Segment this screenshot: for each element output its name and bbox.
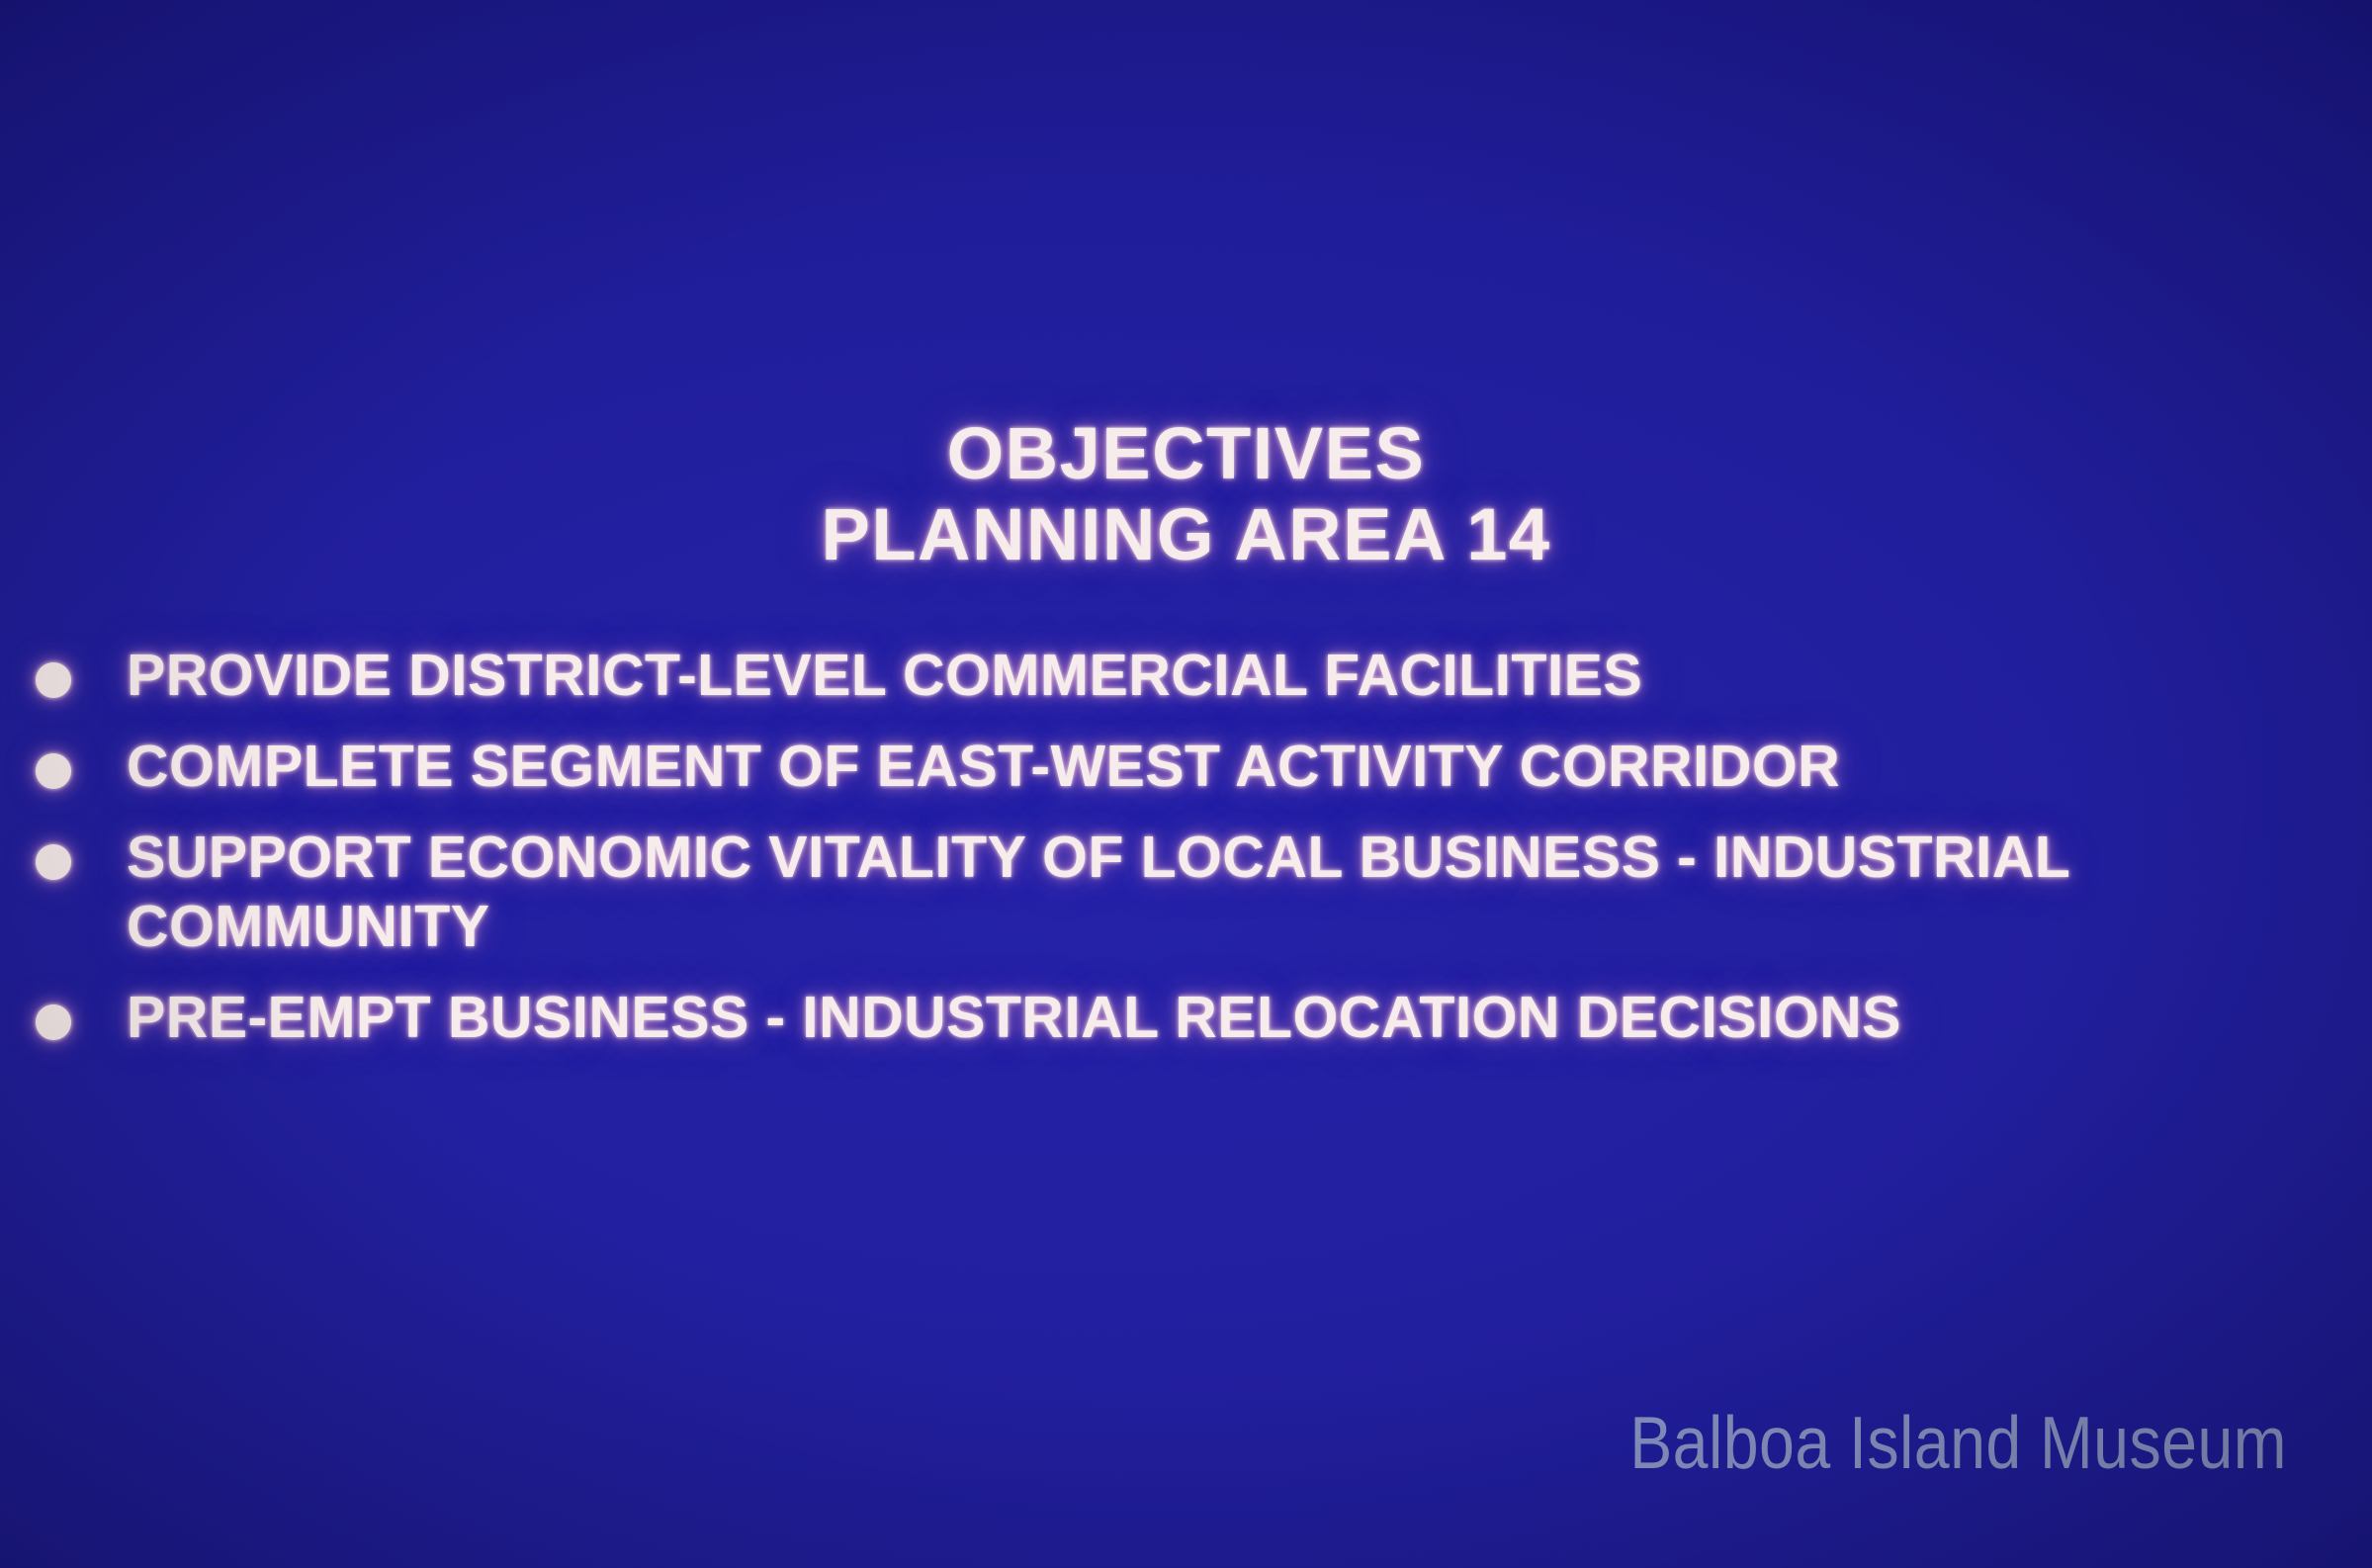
list-item: COMPLETE SEGMENT OF EAST-WEST ACTIVITY C…: [0, 732, 2372, 801]
list-item: PROVIDE DISTRICT-LEVEL COMMERCIAL FACILI…: [0, 641, 2372, 710]
list-item-label: PRE-EMPT BUSINESS - INDUSTRIAL RELOCATIO…: [127, 983, 2372, 1052]
list-item-label: PROVIDE DISTRICT-LEVEL COMMERCIAL FACILI…: [127, 641, 2372, 710]
presentation-slide: OBJECTIVES PLANNING AREA 14 PROVIDE DIST…: [0, 0, 2372, 1568]
list-item: SUPPORT ECONOMIC VITALITY OF LOCAL BUSIN…: [0, 823, 2372, 961]
slide-title-block: OBJECTIVES PLANNING AREA 14: [0, 413, 2372, 575]
bullet-dot-icon: [36, 1004, 71, 1040]
list-item-label: COMPLETE SEGMENT OF EAST-WEST ACTIVITY C…: [127, 732, 2372, 801]
list-item-label: SUPPORT ECONOMIC VITALITY OF LOCAL BUSIN…: [127, 823, 2372, 961]
objectives-bullet-list: PROVIDE DISTRICT-LEVEL COMMERCIAL FACILI…: [0, 641, 2372, 1074]
bullet-dot-icon: [36, 753, 71, 789]
slide-title-line-2: PLANNING AREA 14: [0, 494, 2372, 575]
slide-title-line-1: OBJECTIVES: [0, 413, 2372, 494]
bullet-dot-icon: [36, 662, 71, 698]
bullet-dot-icon: [36, 844, 71, 880]
list-item: PRE-EMPT BUSINESS - INDUSTRIAL RELOCATIO…: [0, 983, 2372, 1052]
museum-watermark: Balboa Island Museum: [1629, 1400, 2287, 1485]
